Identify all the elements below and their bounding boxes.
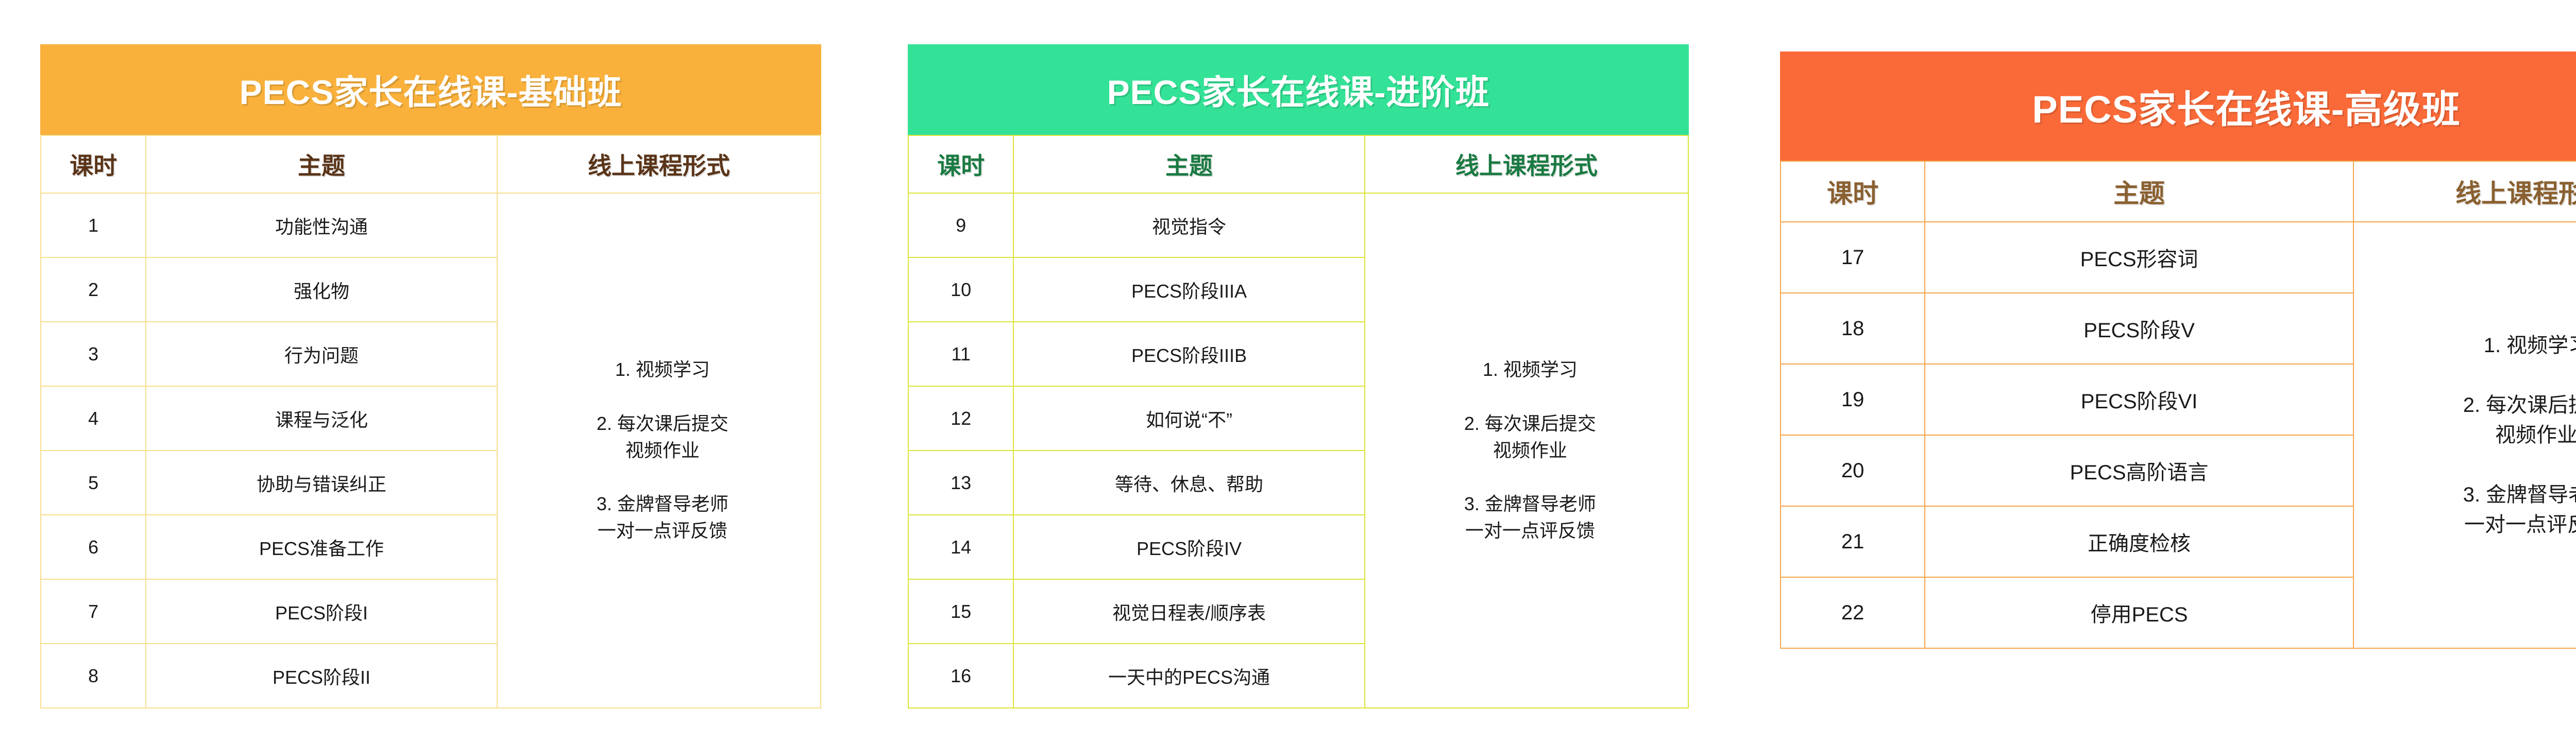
table-header-row: 课时 主题 线上课程形式 <box>41 135 821 193</box>
lesson-topic: PECS阶段IIIB <box>1013 322 1364 386</box>
column-header-lesson: 课时 <box>908 135 1013 193</box>
lesson-number: 8 <box>41 644 146 708</box>
curriculum-rows-advanced: 17 PECS形容词 1. 视频学习 2. 每次课后提交 视频作业 3. 金牌督… <box>1781 222 2576 648</box>
course-format-cell: 1. 视频学习 2. 每次课后提交 视频作业 3. 金牌督导老师 一对一点评反馈 <box>2353 222 2576 648</box>
lesson-number: 17 <box>1781 222 1925 293</box>
curriculum-grid-advanced: 课时 主题 线上课程形式 17 PECS形容词 1. 视频学习 2. 每次课后提… <box>1780 161 2576 649</box>
column-header-format: 线上课程形式 <box>497 135 821 193</box>
table-row: 1 功能性沟通 1. 视频学习 2. 每次课后提交 视频作业 3. 金牌督导老师… <box>41 193 821 257</box>
curriculum-rows-intermediate: 9 视觉指令 1. 视频学习 2. 每次课后提交 视频作业 3. 金牌督导老师 … <box>908 193 1688 708</box>
lesson-number: 22 <box>1781 577 1925 648</box>
lesson-number: 6 <box>41 515 146 579</box>
lesson-number: 15 <box>908 579 1013 644</box>
lesson-topic: PECS阶段VI <box>1925 364 2353 435</box>
lesson-topic: PECS阶段V <box>1925 293 2353 364</box>
lesson-topic: 行为问题 <box>146 322 497 386</box>
lesson-number: 10 <box>908 257 1013 322</box>
curriculum-grid-intermediate: 课时 主题 线上课程形式 9 视觉指令 1. 视频学习 2. 每次课后提交 视频… <box>908 135 1689 708</box>
lesson-topic: 等待、休息、帮助 <box>1013 451 1364 515</box>
column-header-format: 线上课程形式 <box>1365 135 1688 193</box>
lesson-topic: 强化物 <box>146 257 497 322</box>
course-title-intermediate: PECS家长在线课-进阶班 <box>908 44 1689 135</box>
course-title-basic: PECS家长在线课-基础班 <box>40 44 821 135</box>
lesson-topic: 功能性沟通 <box>146 193 497 257</box>
lesson-number: 7 <box>41 579 146 644</box>
lesson-topic: PECS阶段IV <box>1013 515 1364 579</box>
table-row: 17 PECS形容词 1. 视频学习 2. 每次课后提交 视频作业 3. 金牌督… <box>1781 222 2576 293</box>
lesson-number: 9 <box>908 193 1013 257</box>
course-table-intermediate: PECS家长在线课-进阶班 课时 主题 线上课程形式 9 视觉指令 1. 视频学… <box>908 44 1689 708</box>
table-header-row: 课时 主题 线上课程形式 <box>1781 161 2576 222</box>
course-table-basic: PECS家长在线课-基础班 课时 主题 线上课程形式 1 功能性沟通 1. 视频… <box>40 44 821 708</box>
column-header-topic: 主题 <box>1013 135 1364 193</box>
lesson-number: 14 <box>908 515 1013 579</box>
column-header-format: 线上课程形式 <box>2353 161 2576 222</box>
lesson-number: 12 <box>908 386 1013 451</box>
lesson-topic: 一天中的PECS沟通 <box>1013 644 1364 708</box>
curriculum-rows-basic: 1 功能性沟通 1. 视频学习 2. 每次课后提交 视频作业 3. 金牌督导老师… <box>41 193 821 708</box>
lesson-topic: 课程与泛化 <box>146 386 497 451</box>
lesson-number: 19 <box>1781 364 1925 435</box>
lesson-number: 16 <box>908 644 1013 708</box>
course-table-advanced: PECS家长在线课-高级班 课时 主题 线上课程形式 17 PECS形容词 1.… <box>1780 51 2576 649</box>
course-format-cell: 1. 视频学习 2. 每次课后提交 视频作业 3. 金牌督导老师 一对一点评反馈 <box>1365 193 1688 708</box>
course-title-advanced: PECS家长在线课-高级班 <box>1780 51 2576 161</box>
lesson-topic: PECS高阶语言 <box>1925 435 2353 506</box>
lesson-number: 2 <box>41 257 146 322</box>
curriculum-grid-basic: 课时 主题 线上课程形式 1 功能性沟通 1. 视频学习 2. 每次课后提交 视… <box>40 135 821 708</box>
lesson-number: 21 <box>1781 506 1925 577</box>
column-header-lesson: 课时 <box>1781 161 1925 222</box>
table-row: 9 视觉指令 1. 视频学习 2. 每次课后提交 视频作业 3. 金牌督导老师 … <box>908 193 1688 257</box>
lesson-topic: 如何说“不” <box>1013 386 1364 451</box>
lesson-number: 13 <box>908 451 1013 515</box>
column-header-topic: 主题 <box>1925 161 2353 222</box>
column-header-topic: 主题 <box>146 135 497 193</box>
course-format-cell: 1. 视频学习 2. 每次课后提交 视频作业 3. 金牌督导老师 一对一点评反馈 <box>497 193 821 708</box>
lesson-number: 5 <box>41 451 146 515</box>
lesson-number: 11 <box>908 322 1013 386</box>
column-header-lesson: 课时 <box>41 135 146 193</box>
table-header-row: 课时 主题 线上课程形式 <box>908 135 1688 193</box>
lesson-topic: PECS阶段II <box>146 644 497 708</box>
lesson-number: 3 <box>41 322 146 386</box>
lesson-number: 4 <box>41 386 146 451</box>
lesson-topic: PECS形容词 <box>1925 222 2353 293</box>
lesson-topic: 正确度检核 <box>1925 506 2353 577</box>
lesson-topic: 视觉指令 <box>1013 193 1364 257</box>
lesson-number: 20 <box>1781 435 1925 506</box>
lesson-topic: PECS阶段I <box>146 579 497 644</box>
lesson-topic: 协助与错误纠正 <box>146 451 497 515</box>
lesson-topic: 停用PECS <box>1925 577 2353 648</box>
lesson-number: 1 <box>41 193 146 257</box>
lesson-number: 18 <box>1781 293 1925 364</box>
lesson-topic: PECS准备工作 <box>146 515 497 579</box>
lesson-topic: 视觉日程表/顺序表 <box>1013 579 1364 644</box>
course-curriculum-board: PECS家长在线课-基础班 课时 主题 线上课程形式 1 功能性沟通 1. 视频… <box>0 0 2576 744</box>
lesson-topic: PECS阶段IIIA <box>1013 257 1364 322</box>
